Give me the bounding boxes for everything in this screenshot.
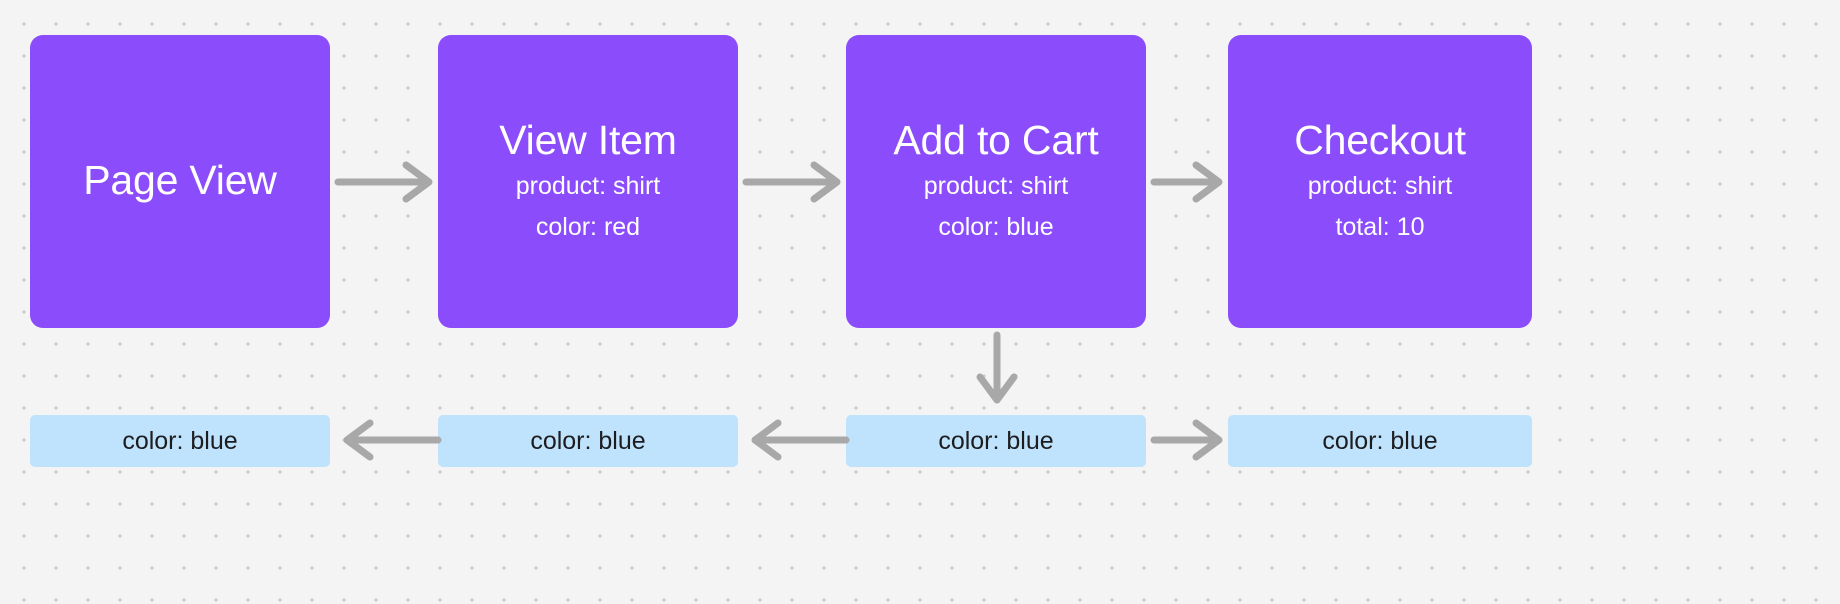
event-node-title: Add to Cart xyxy=(893,116,1098,164)
event-node-property: product: shirt xyxy=(924,166,1069,207)
event-node-properties: product: shirt total: 10 xyxy=(1308,166,1453,248)
arrow-right-icon xyxy=(1152,418,1230,462)
property-chip-add-to-cart[interactable]: color: blue xyxy=(846,415,1146,467)
event-node-property: color: red xyxy=(536,207,640,248)
arrow-right-icon xyxy=(1152,160,1230,204)
event-node-property: total: 10 xyxy=(1336,207,1425,248)
event-node-property: color: blue xyxy=(938,207,1053,248)
arrow-down-icon xyxy=(974,333,1020,411)
event-node-title: Checkout xyxy=(1294,116,1466,164)
event-node-add-to-cart[interactable]: Add to Cart product: shirt color: blue xyxy=(846,35,1146,328)
event-node-page-view[interactable]: Page View xyxy=(30,35,330,328)
event-node-view-item[interactable]: View Item product: shirt color: red xyxy=(438,35,738,328)
arrow-right-icon xyxy=(336,160,440,204)
arrow-right-icon xyxy=(744,160,848,204)
property-chip-label: color: blue xyxy=(1322,429,1437,454)
property-chip-label: color: blue xyxy=(938,429,1053,454)
property-chip-page-view[interactable]: color: blue xyxy=(30,415,330,467)
event-node-properties: product: shirt color: red xyxy=(516,166,661,248)
event-node-title: Page View xyxy=(83,156,276,204)
property-chip-checkout[interactable]: color: blue xyxy=(1228,415,1532,467)
property-chip-view-item[interactable]: color: blue xyxy=(438,415,738,467)
event-node-title: View Item xyxy=(499,116,676,164)
event-node-checkout[interactable]: Checkout product: shirt total: 10 xyxy=(1228,35,1532,328)
property-chip-label: color: blue xyxy=(530,429,645,454)
arrow-left-icon xyxy=(744,418,848,462)
flow-canvas: Page View View Item product: shirt color… xyxy=(0,0,1840,604)
event-node-property: product: shirt xyxy=(1308,166,1453,207)
event-node-property: product: shirt xyxy=(516,166,661,207)
event-node-properties: product: shirt color: blue xyxy=(924,166,1069,248)
property-chip-label: color: blue xyxy=(122,429,237,454)
arrow-left-icon xyxy=(336,418,440,462)
